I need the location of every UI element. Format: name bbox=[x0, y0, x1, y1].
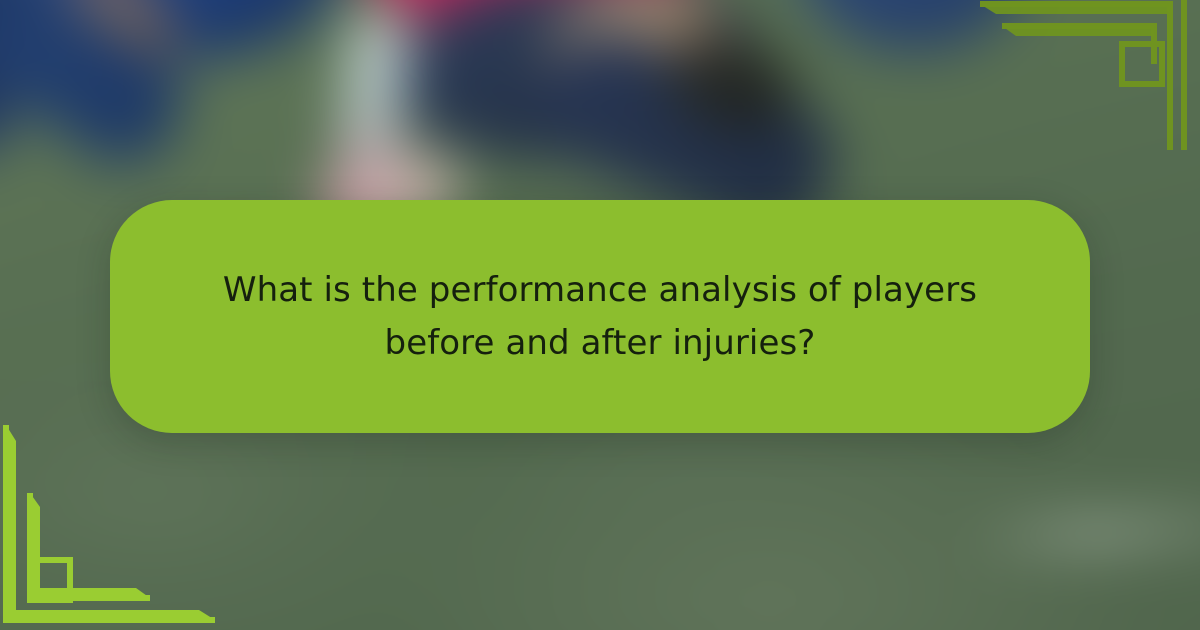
question-text: What is the performance analysis of play… bbox=[179, 264, 1022, 369]
corner-ornament-bottom-left bbox=[0, 415, 230, 630]
corner-ornament-top-right bbox=[970, 0, 1200, 150]
graphic-canvas: What is the performance analysis of play… bbox=[0, 0, 1200, 630]
question-card: What is the performance analysis of play… bbox=[110, 200, 1090, 433]
